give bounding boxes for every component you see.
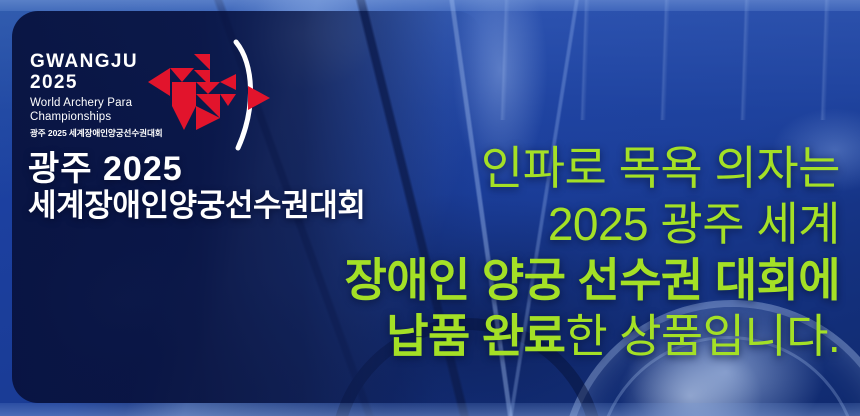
event-logo: GWANGJU 2025 World Archery Para Champion… [30, 52, 280, 152]
promo-message-line4-rest: 한 상품입니다. [565, 310, 840, 362]
promo-banner: GWANGJU 2025 World Archery Para Champion… [0, 0, 860, 416]
promo-message: 인파로 목욕 의자는 2025 광주 세계 장애인 양궁 선수권 대회에 납품 … [320, 140, 840, 364]
event-title: 광주 2025 세계장애인양궁선수권대회 [28, 150, 365, 224]
bottom-light-band [0, 403, 860, 416]
archer-tangram-emblem [138, 38, 274, 158]
arrowhead-icon [248, 86, 270, 110]
event-title-line2: 세계장애인양궁선수권대회 [28, 188, 365, 224]
promo-message-line2: 2025 광주 세계 [320, 196, 840, 252]
promo-message-line1: 인파로 목욕 의자는 [320, 140, 840, 196]
top-light-band [0, 0, 860, 11]
promo-message-line4: 납품 완료한 상품입니다. [320, 308, 840, 364]
promo-message-line4-highlight: 납품 완료 [386, 310, 565, 362]
promo-message-line3: 장애인 양궁 선수권 대회에 [320, 252, 840, 308]
event-title-line1: 광주 2025 [28, 150, 365, 188]
